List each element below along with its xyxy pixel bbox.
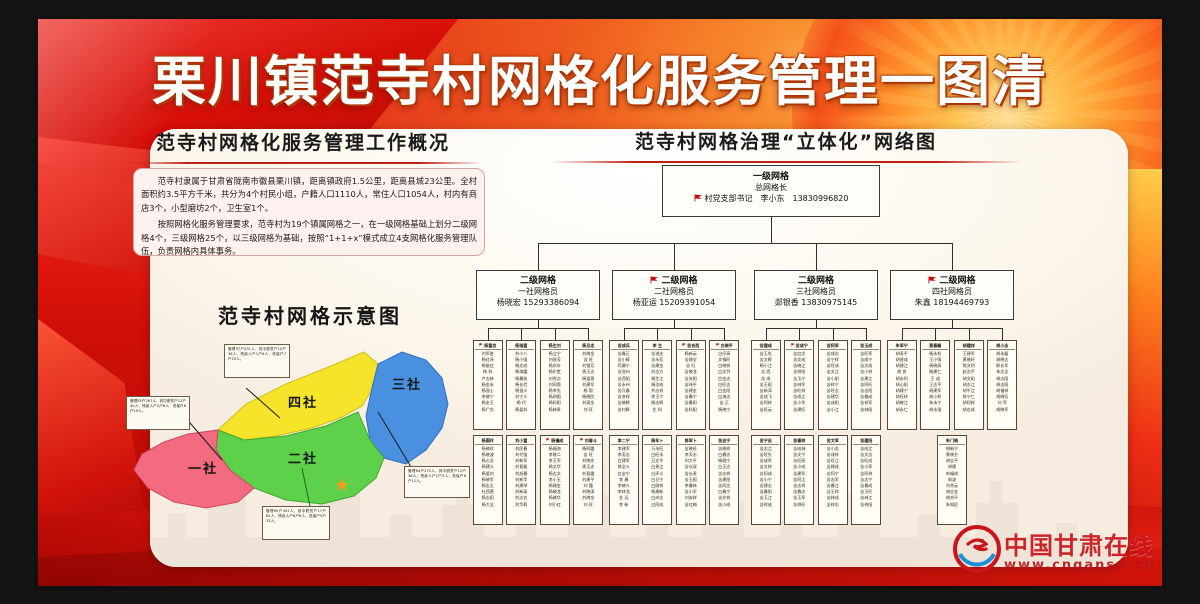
org-node-level1[interactable]: 一级网格 总网格长 村党支部书记 李小东 13830996820 <box>662 165 880 217</box>
level2-role: 四社网格员 <box>891 287 1013 298</box>
party-flag-icon <box>479 343 483 347</box>
party-flag-icon <box>791 343 795 347</box>
grid-member-name: 苦祥成 <box>753 502 779 508</box>
map-heading: 范寺村网格示意图 <box>150 300 470 329</box>
level2-label: 二级网格 <box>477 275 599 287</box>
level2-label-text: 二级网格 <box>661 276 697 286</box>
party-flag-icon <box>580 438 584 442</box>
grid-member-name: 苦祥阳 <box>853 502 879 508</box>
overview-paragraph-1: 范寺村隶属于甘肃省陇南市徽县栗川镇，距离镇政府1.5公里，距离县城23公里。全村… <box>141 175 477 215</box>
connector-v-table <box>935 328 936 340</box>
grid-member-name: 苦小成 <box>711 502 737 508</box>
grid-member-name: 李 新 <box>611 502 637 508</box>
grid-member-table-header-text: 苦玉成 <box>860 343 872 348</box>
grid-member-name: 杨大全 <box>475 502 501 508</box>
grid-member-table-header: 苦成宁 <box>786 343 812 351</box>
grid-member-table-header-text: 苦志宁 <box>718 438 730 443</box>
grid-member-table[interactable]: 苦文军苦小志苦成祥苦旺江苦建成苦阿宁苦志军苦春江苦玉祥苦林成苦祥志 <box>818 435 848 525</box>
party-flag-icon <box>716 343 720 347</box>
grid-member-table-header-text: 杨旦忠 <box>582 343 594 348</box>
party-flag-icon <box>546 438 550 442</box>
connector-v-g2 <box>816 243 817 270</box>
grid-member-table[interactable]: 胡小志胡永磊胡晓志郎长军朱志全胡志阳胡志阳胡福祥胡晓芳刘 军胡晓军 <box>987 340 1017 430</box>
network-heading-text: 范寺村网格治理“立体化”网络图 <box>635 131 937 153</box>
grid-member-table-header: 李二宁 <box>611 438 637 446</box>
grid-member-table-header: 朱军宁 <box>889 343 915 351</box>
grid-member-table[interactable]: 刘小富刘民春刘代强刘新军刘晋磊刘旭春刘新华刘建琴刘新高刘志名刘华莉 <box>506 435 536 525</box>
grid-member-name: 苦林阳 <box>853 407 879 413</box>
grid-member-table-header-text: 杨指富 <box>515 343 527 348</box>
grid-member-table-header-text: 李 生 <box>652 343 662 348</box>
connector-v-table <box>691 328 692 340</box>
grid-member-table-header: 白晓平 <box>711 343 737 351</box>
grid-member-table-header-text: 李二宁 <box>618 438 630 443</box>
grid-member-name: 苦祥旺 <box>786 502 812 508</box>
grid-member-table-header: 刘晋斗 <box>575 438 601 446</box>
grid-member-table-header-text: 胡小志 <box>996 343 1008 348</box>
connector-v-g3 <box>952 243 953 270</box>
map-label-two: 二社 <box>288 448 318 467</box>
grid-member-table[interactable]: 苦建阳苦成江苦文志苦旺成苦小军苦阿祥苦志宁苦春成苦玉旺苦林江苦祥阳 <box>851 435 881 525</box>
village-grid-map: 四社 三社 二社 一社 管理37户231人，其中脱贫户10户38人、残疾人户1户… <box>126 330 486 542</box>
map-callout-three: 管理64户270人，其中脱贫户12户38人、残疾人户2户3人、低保户6户11人。 <box>404 466 470 498</box>
org-node-level2[interactable]: 二级网格 一社网格员 杨晓宏 15293386094 <box>476 270 600 320</box>
map-callout-four: 管理37户231人，其中脱贫户10户38人、残疾人户1户6人、低保户7户25人。 <box>224 344 290 378</box>
watermark-name: 中国甘肃在线 <box>1004 526 1154 561</box>
grid-member-name: 胡永仁 <box>889 407 915 413</box>
grid-member-table-header-text: 苦春祥 <box>793 438 805 443</box>
connector-v-main <box>771 217 772 243</box>
map-callout-two: 管理65户341人，其中脱贫户17户62人、残疾人户6户8人、低保户9户33人。 <box>262 506 330 540</box>
level1-label: 一级网格 <box>663 171 879 183</box>
grid-member-table[interactable]: 朱军宁胡寿平胡晋成胡建江胡 良胡永利胡心阳胡建宁胡旺祥胡晓江胡永仁 <box>887 340 917 430</box>
grid-member-name: 刘 旺 <box>575 407 601 413</box>
grid-member-table[interactable]: 苦成宁苦红志苦文成苦晓江苦祥阳苦玉宁苦林军苦旺祥苦成江苦小华苦建旺 <box>784 340 814 430</box>
connector-v-table <box>833 328 834 340</box>
watermark: 中国甘肃在线 www.cngansu.cn <box>952 520 1180 586</box>
grid-member-table-header-text: 苦阿军 <box>827 343 839 348</box>
connector-v-table <box>766 328 767 340</box>
watermark-logo-icon <box>952 524 1002 574</box>
grid-member-table[interactable]: 杨旦忠刘晓金苦 旺刘锁芳贵玉志杨爱恩刘建军杨 毅杨晓民刘高金刘 旺 <box>573 340 603 430</box>
connector-v-table <box>866 328 867 340</box>
connector-h-group <box>902 328 1003 329</box>
org-node-level2[interactable]: 二级网格 三社网格员 郯银香 13830975145 <box>754 270 878 320</box>
grid-member-name: 苦科阳 <box>678 407 704 413</box>
grid-member-name: 胡永强 <box>922 407 948 413</box>
grid-member-table-header-text: 朱门晓 <box>946 438 958 443</box>
grid-member-table-header: 杨富忠 <box>475 343 501 351</box>
grid-member-name: 杨晓宁 <box>711 407 737 413</box>
party-flag-icon <box>694 194 703 202</box>
grid-member-name: 杨爱科 <box>508 407 534 413</box>
grid-member-name: 苦旺云 <box>753 407 779 413</box>
grid-member-table[interactable]: 胡建祥王建军黄晓环郎文利赵志平胡文阳胡志江胡平江郎宁仁胡阿祥胡志成 <box>954 340 984 430</box>
grid-member-table-header-text: 杨年卜 <box>651 438 663 443</box>
connector-v-group <box>952 320 953 328</box>
grid-member-name: 朱知民 <box>939 502 965 508</box>
overview-heading: 范寺村网格化服务管理工作概况 <box>133 128 473 155</box>
grid-member-table[interactable]: 杨福成杨福海李晓二李玉军杨文华杨志文李小玉杨建金杨晓龙杨晓华刘小红 <box>540 435 570 525</box>
grid-member-table-header: 苦宁志 <box>753 438 779 446</box>
grid-member-table[interactable]: 杨年卜万永旺白旺永万文令白贵江白环义白旦宁白刚祥杨建新白州志白阿成 <box>642 435 672 525</box>
heading-rule <box>123 162 483 164</box>
grid-member-table-header-text: 郎军卜 <box>685 438 697 443</box>
grid-member-table[interactable]: 杨富忠刘军香杨红泽杨俊红杨 科卢志林杨金永杨晋士李晓宁杨金玉杨尸台 <box>473 340 503 430</box>
grid-member-name: 白阿成 <box>644 502 670 508</box>
map-label-four: 四社 <box>288 392 318 411</box>
grid-member-table-header-text: 苦宁志 <box>760 438 772 443</box>
level2-person: 杨亚运 15209391054 <box>613 298 735 309</box>
grid-member-table-header: 朱门晓 <box>939 438 965 446</box>
grid-member-table-header: 胡建祥 <box>956 343 982 351</box>
grid-member-table-header-text: 胡建祥 <box>963 343 975 348</box>
grid-member-table-header: 胡小志 <box>989 343 1015 351</box>
network-heading: 范寺村网格治理“立体化”网络图 <box>560 127 1012 154</box>
grid-member-table-header: 苦建成 <box>753 343 779 351</box>
grid-member-name: 刘华莉 <box>508 502 534 508</box>
grid-member-table-header-text: 黄春磊 <box>929 343 941 348</box>
connector-v-table <box>969 328 970 340</box>
grid-member-table-header: 杨国玲 <box>475 438 501 446</box>
grid-member-table-header: 杨年卜 <box>644 438 670 446</box>
grid-member-table[interactable]: 刘晋斗杨四霞苦 旺刘晓先贵玉志刘晋霞刘建平刘 霞刘晓涛刘晓金刘 旺 <box>573 435 603 525</box>
page-title: 栗川镇范寺村网格化服务管理一图清 <box>38 55 1162 109</box>
grid-member-table[interactable]: 李 生苦进志苦永芳苦建金刘志方杨生江杨志成共志祥李玉宁杨志辉庄 科 <box>642 340 672 430</box>
connector-v-g0 <box>538 243 539 270</box>
grid-member-table[interactable]: 苦宁志苦志江苦旺先苦成军苦文祥苦阿成苦小宁苦建志苦春阳苦玉江苦祥成 <box>751 435 781 525</box>
connector-v-group <box>674 320 675 328</box>
level2-person: 郯银香 13830975145 <box>755 298 877 309</box>
grid-member-name: 刘 旺 <box>575 502 601 508</box>
level1-role: 总网格长 <box>663 183 879 194</box>
overview-heading-text: 范寺村网格化服务管理工作概况 <box>156 132 450 154</box>
grid-member-table-header-text: 苦成宁 <box>796 343 808 348</box>
grid-member-name: 杨尸台 <box>475 407 501 413</box>
connector-v-g1 <box>674 243 675 270</box>
grid-member-table-header-text: 杨国玲 <box>482 438 494 443</box>
level2-label: 二级网格 <box>613 275 735 287</box>
map-label-three: 三社 <box>392 374 422 393</box>
grid-member-name: 苦建旺 <box>786 407 812 413</box>
grid-member-table-header-text: 苦文军 <box>827 438 839 443</box>
grid-member-table[interactable]: 苦志宁苦晓祥白春志杨刚宁白玉志苦志祥苦建阳苦阿志白春宁苦文祥苦小成 <box>709 435 739 525</box>
grid-member-table-header-text: 苦合西 <box>687 343 699 348</box>
map-callout-one: 管理85户267人，其中脱贫户12户40人、残疾人户2户8人、低保户6户19人。 <box>126 396 190 430</box>
grid-member-table-header: 苦建阳 <box>853 438 879 446</box>
connector-h-group <box>766 328 867 329</box>
grid-member-name: 苦红梅 <box>678 502 704 508</box>
level2-label-text: 二级网格 <box>520 276 556 286</box>
grid-member-table[interactable]: 李二宁李建军李芳志白建军郎全义白宝宁李 春李晓义李林龙艺 远李 新 <box>609 435 639 525</box>
level1-person: 村党支部书记 李小东 13830996820 <box>663 194 879 205</box>
connector-v-table <box>588 328 589 340</box>
grid-member-table-header-text: 刘小富 <box>515 438 527 443</box>
overview-textbox: 范寺村隶属于甘肃省陇南市徽县栗川镇，距离镇政府1.5公里，距离县城23公里。全村… <box>133 168 485 256</box>
connector-h-main <box>538 243 952 244</box>
grid-member-table-header: 杨生刘 <box>542 343 568 351</box>
grid-member-table[interactable]: 郎军卜苦晓旺李芳志刘大平苦长双苦长贵苦玉祖李春林苦小军刘安祥苦红梅 <box>676 435 706 525</box>
org-node-level2[interactable]: 二级网格 二社网格员 杨亚运 15209391054 <box>612 270 736 320</box>
grid-member-name: 苦祥志 <box>820 502 846 508</box>
level2-person: 杨晓宏 15293386094 <box>477 298 599 309</box>
connector-v-table <box>799 328 800 340</box>
connector-v-table <box>488 328 489 340</box>
grid-member-table-header-text: 杨生刘 <box>549 343 561 348</box>
grid-member-table-header: 杨旦忠 <box>575 343 601 351</box>
grid-member-table-header: 郎军卜 <box>678 438 704 446</box>
grid-member-table-header: 苦成兵 <box>611 343 637 351</box>
connector-h-group <box>624 328 725 329</box>
org-chart: 一级网格 总网格长 村党支部书记 李小东 13830996820 二级网格 一社… <box>466 165 1026 540</box>
grid-member-table-header: 杨指富 <box>508 343 534 351</box>
grid-member-table[interactable]: 苦阿军苦成志苦宁祥苦旺成苦文江苦小阳苦祥宁苦旺志苦建华苦成阳苦小江 <box>818 340 848 430</box>
grid-member-table-header: 苦志宁 <box>711 438 737 446</box>
grid-member-name: 苦小江 <box>820 407 846 413</box>
level2-role: 一社网格员 <box>477 287 599 298</box>
grid-member-table-header: 刘小富 <box>508 438 534 446</box>
grid-member-table-header: 苦合西 <box>678 343 704 351</box>
connector-v-table <box>1002 328 1003 340</box>
level2-label-text: 二级网格 <box>798 276 834 286</box>
watermark-url: www.cngansu.cn <box>1004 558 1155 573</box>
connector-v-table <box>902 328 903 340</box>
grid-member-table-header-text: 刘晋斗 <box>585 438 597 443</box>
grid-member-table-header-text: 白晓平 <box>721 343 733 348</box>
connector-v-table <box>724 328 725 340</box>
connector-v-group <box>816 320 817 328</box>
grid-member-table[interactable]: 杨生刘杨立宁刘晋芳杨东年杨尔堂刘秀点刘同恩杨幸先杨四祖杨科阳杨林贵 <box>540 340 570 430</box>
heading-rule-right <box>550 161 1022 163</box>
grid-member-table-header-text: 苦成兵 <box>618 343 630 348</box>
poster-board: 栗川镇范寺村网格化服务管理一图清 范寺村网格化服务管理工作概况 范寺村隶属于甘肃… <box>0 0 1200 604</box>
grid-member-table-header-text: 苦建成 <box>760 343 772 348</box>
grid-member-name: 刘小红 <box>542 502 568 508</box>
grid-member-name: 胡志成 <box>956 407 982 413</box>
grid-member-table-header: 黄春磊 <box>922 343 948 351</box>
level2-label: 二级网格 <box>891 275 1013 287</box>
level1-person-text: 村党支部书记 李小东 13830996820 <box>705 194 849 203</box>
connector-v-table <box>657 328 658 340</box>
grid-member-table[interactable]: 苦春祥苦成林苦文宁苦旺阳苦小成苦建军苦阿江苦志祥苦春志苦玉军苦祥旺 <box>784 435 814 525</box>
grid-member-table-header: 苦春祥 <box>786 438 812 446</box>
grid-member-table-header-text: 苦建阳 <box>860 438 872 443</box>
connector-v-group <box>538 320 539 328</box>
org-node-level2[interactable]: 二级网格 四社网格员 朱鑫 18194469793 <box>890 270 1014 320</box>
level2-person: 朱鑫 18194469793 <box>891 298 1013 309</box>
grid-member-table-header: 苦玉成 <box>853 343 879 351</box>
grid-member-name: 杨林贵 <box>542 407 568 413</box>
level2-role: 二社网格员 <box>613 287 735 298</box>
grid-member-table[interactable]: 杨指富刘小八杨小强杨文成杨海霞杨春枝杨长俭杨银义刘宁义杨 代杨爱科 <box>506 340 536 430</box>
grid-member-table-header-text: 朱军宁 <box>896 343 908 348</box>
connector-h-group <box>488 328 589 329</box>
grid-member-name: 庄 科 <box>644 407 670 413</box>
party-flag-icon <box>928 276 937 284</box>
level2-label: 二级网格 <box>755 275 877 287</box>
grid-member-table[interactable]: 苦玉成苦旺军苦成宁苦文成苦小祥苦建江苦阿旺苦志阳苦春成苦祥军苦林阳 <box>851 340 881 430</box>
grid-member-table[interactable]: 朱门晓胡新宁黄晓仑胡志平胡建申福成周波刘秀云胡志金胡合平朱知民 <box>937 435 967 525</box>
grid-member-table-header: 杨福成 <box>542 438 568 446</box>
grid-member-table-header-text: 杨富忠 <box>484 343 496 348</box>
level2-label-text: 二级网格 <box>939 276 975 286</box>
level2-role: 三社网格员 <box>755 287 877 298</box>
grid-member-table-header: 李 生 <box>644 343 670 351</box>
party-flag-icon <box>682 343 686 347</box>
connector-v-table <box>555 328 556 340</box>
overview-paragraph-2: 按照网格化服务管理要求，范寺村为19个镇属网格之一，在一级网格基础上划分二级网格… <box>141 218 477 258</box>
grid-member-table[interactable]: 苦成兵苦春正苦小辉苟康宁苦合州苦西阳苦永州苦凡春苦合祥苦晓辉苦村辉 <box>609 340 639 430</box>
connector-v-table <box>521 328 522 340</box>
grid-member-table-header: 苦阿军 <box>820 343 846 351</box>
connector-v-table <box>624 328 625 340</box>
grid-member-table[interactable]: 苦合西杨新云苦建全苦 旺苦晓龙苦张阳苦玮平苦建金苦春宁苦春阳苦科阳 <box>676 340 706 430</box>
grid-member-table-header-text: 杨福成 <box>551 438 563 443</box>
grid-member-name: 胡晓军 <box>989 407 1015 413</box>
party-flag-icon <box>650 276 659 284</box>
grid-member-table-header: 苦文军 <box>820 438 846 446</box>
grid-member-table[interactable]: 白晓平白仔高文福旺白晓祥白文列白金志白旺志白金阳白海志苦 正杨晓宁 <box>709 340 739 430</box>
grid-member-table[interactable]: 黄春磊杨永利王小强杨晓高杨建仁王 成王志平胡建军胡小利朱永宁胡永强 <box>920 340 950 430</box>
map-label-one: 一社 <box>188 458 218 477</box>
grid-member-table[interactable]: 杨国玲杨晓珍杨晓波杨占全杨建义杨爱刘杨晓军杨志玉杜西营杨志阳杨大全 <box>473 435 503 525</box>
grid-member-name: 苦村辉 <box>611 407 637 413</box>
grid-member-table[interactable]: 苦建成苦玉先苦文辉杨小江苦 西苦 成苦玉祖苦新涛苦成飞苦阿祥苦旺云 <box>751 340 781 430</box>
